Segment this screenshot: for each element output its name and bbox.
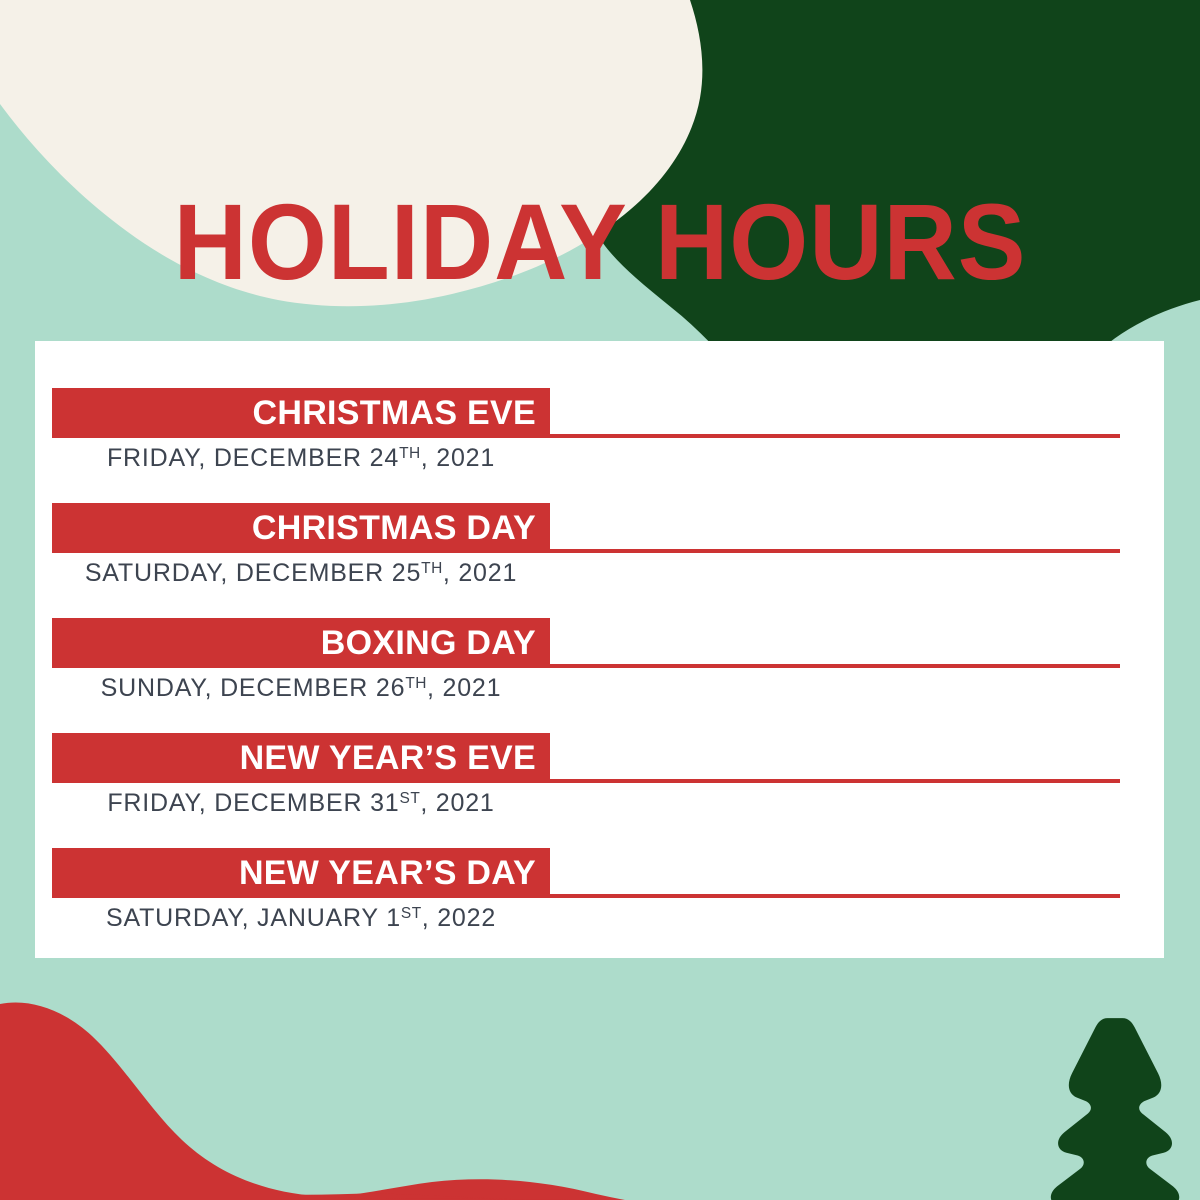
holiday-name-banner: NEW YEAR’S DAY [52, 848, 550, 898]
holiday-date-weekday: FRIDAY, DECEMBER 24 [107, 444, 399, 472]
hours-write-in-rule [550, 434, 1120, 438]
holiday-date: FRIDAY, DECEMBER 24TH, 2021 [52, 442, 550, 476]
holiday-name-label: CHRISTMAS DAY [252, 511, 550, 545]
hours-write-in-rule [550, 894, 1120, 898]
holiday-name-banner: CHRISTMAS DAY [52, 503, 550, 553]
holiday-date-year: , 2021 [427, 674, 501, 702]
holiday-date-weekday: FRIDAY, DECEMBER 31 [107, 789, 399, 817]
holiday-date: SATURDAY, DECEMBER 25TH, 2021 [52, 557, 550, 591]
holiday-date: SUNDAY, DECEMBER 26TH, 2021 [52, 672, 550, 706]
holiday-date-ordinal: TH [405, 675, 427, 692]
holiday-date-weekday: SATURDAY, DECEMBER 25 [85, 559, 421, 587]
schedule-card: CHRISTMAS EVE FRIDAY, DECEMBER 24TH, 202… [35, 341, 1164, 958]
holiday-row: NEW YEAR’S EVE FRIDAY, DECEMBER 31ST, 20… [35, 733, 1164, 848]
holiday-name-label: NEW YEAR’S DAY [239, 856, 550, 890]
holiday-date-year: , 2021 [421, 444, 495, 472]
holiday-name-label: NEW YEAR’S EVE [240, 741, 550, 775]
holiday-row: NEW YEAR’S DAY SATURDAY, JANUARY 1ST, 20… [35, 848, 1164, 963]
hours-write-in-rule [550, 664, 1120, 668]
holiday-row: CHRISTMAS EVE FRIDAY, DECEMBER 24TH, 202… [35, 388, 1164, 503]
holiday-date-weekday: SATURDAY, JANUARY 1 [106, 904, 401, 932]
holiday-date: FRIDAY, DECEMBER 31ST, 2021 [52, 787, 550, 821]
holiday-date-weekday: SUNDAY, DECEMBER 26 [101, 674, 406, 702]
hours-write-in-rule [550, 779, 1120, 783]
holiday-date-year: , 2021 [443, 559, 517, 587]
holiday-date-ordinal: TH [421, 560, 443, 577]
holiday-name-banner: NEW YEAR’S EVE [52, 733, 550, 783]
holiday-row: CHRISTMAS DAY SATURDAY, DECEMBER 25TH, 2… [35, 503, 1164, 618]
holiday-date: SATURDAY, JANUARY 1ST, 2022 [52, 902, 550, 936]
hours-write-in-rule [550, 549, 1120, 553]
page-title: HOLIDAY HOURS [36, 188, 1164, 296]
holiday-name-label: BOXING DAY [321, 626, 550, 660]
holiday-name-label: CHRISTMAS EVE [253, 396, 551, 430]
holiday-date-ordinal: ST [401, 905, 422, 922]
holiday-date-year: , 2021 [420, 789, 494, 817]
holiday-date-ordinal: ST [400, 790, 421, 807]
holiday-name-banner: BOXING DAY [52, 618, 550, 668]
holiday-date-ordinal: TH [399, 445, 421, 462]
holiday-row: BOXING DAY SUNDAY, DECEMBER 26TH, 2021 [35, 618, 1164, 733]
holiday-name-banner: CHRISTMAS EVE [52, 388, 550, 438]
holiday-date-year: , 2022 [422, 904, 496, 932]
